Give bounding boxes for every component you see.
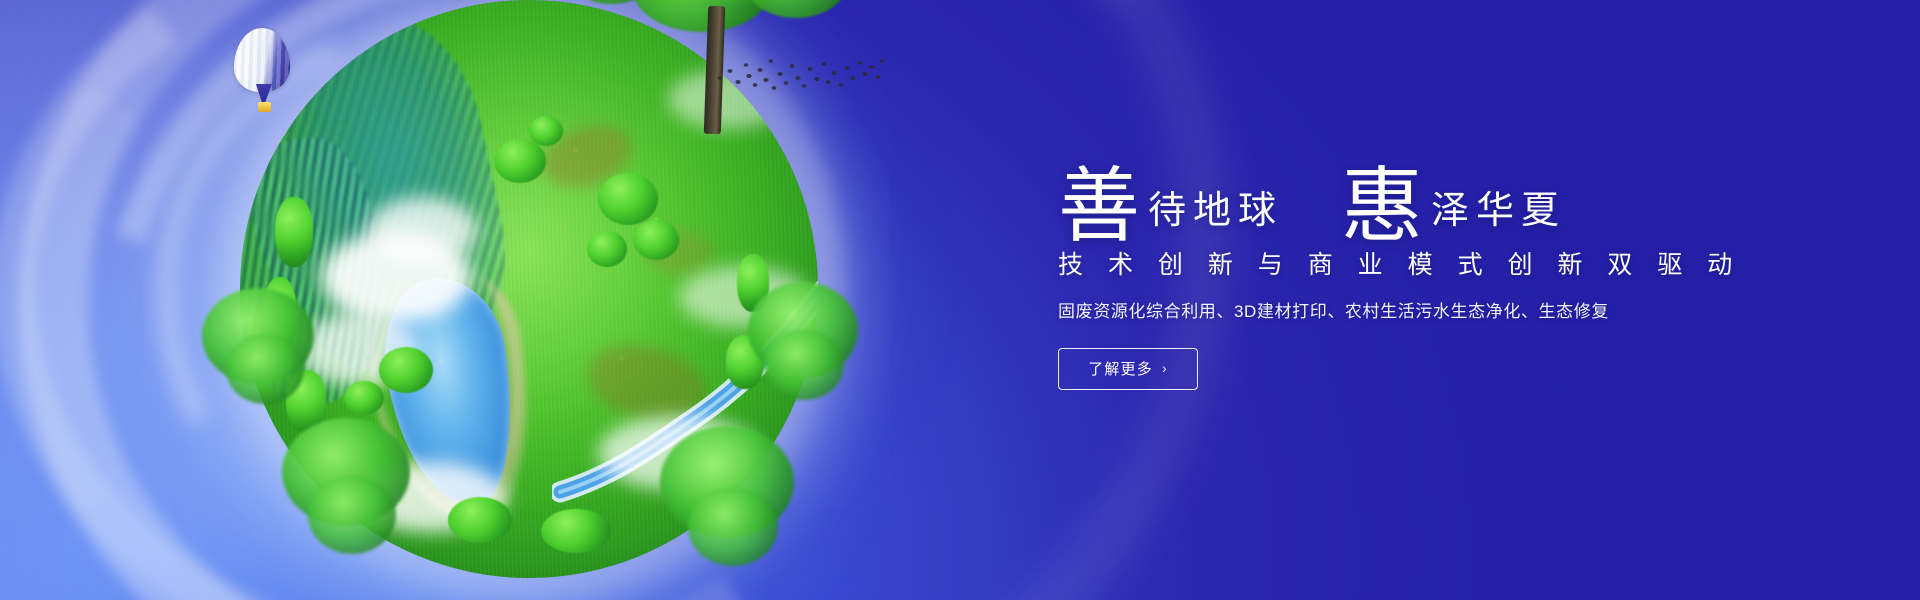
rim-tree	[648, 418, 808, 588]
balloon-basket	[258, 102, 271, 112]
earth-patch	[534, 114, 639, 198]
surface-cloud	[356, 462, 506, 532]
hero-banner: 善 待地球 惠 泽华夏 技 术 创 新 与 商 业 模 式 创 新 双 驱 动 …	[0, 0, 1920, 600]
headline-rest-1: 待地球	[1140, 192, 1283, 236]
river	[552, 254, 818, 555]
headline-lead-char-1: 善	[1058, 173, 1140, 242]
rim-tree	[738, 274, 868, 424]
balloon-seams	[234, 28, 290, 92]
earth-patch	[410, 376, 502, 437]
mountain-ridge-secondary	[240, 132, 392, 412]
learn-more-button[interactable]: 了解更多 ›	[1058, 348, 1198, 390]
rim-tree	[274, 408, 424, 578]
surface-cloud	[598, 416, 758, 490]
hero-copy: 善 待地球 惠 泽华夏 技 术 创 新 与 商 业 模 式 创 新 双 驱 动 …	[1058, 150, 1758, 390]
headline-phrase-2: 惠 泽华夏	[1341, 167, 1566, 236]
left-haze	[0, 0, 430, 600]
headline-phrase-1: 善 待地球	[1058, 167, 1283, 236]
lake-shoreline	[355, 251, 547, 536]
lake	[375, 270, 527, 516]
learn-more-label: 了解更多	[1088, 358, 1153, 379]
hot-air-balloon-icon	[228, 28, 298, 120]
page-title: 善 待地球 惠 泽华夏	[1058, 150, 1758, 236]
headline-rest-2: 泽华夏	[1423, 192, 1566, 236]
chevron-right-icon: ›	[1162, 361, 1168, 375]
surface-cloud	[321, 231, 471, 323]
surface-cloud	[679, 266, 809, 328]
page-description: 固废资源化综合利用、3D建材打印、农村生活污水生态净化、生态修复	[1058, 300, 1758, 324]
earth-patch	[580, 333, 714, 432]
headline-lead-char-2: 惠	[1341, 173, 1423, 242]
surface-cloud	[298, 312, 418, 386]
page-subtitle: 技 术 创 新 与 商 业 模 式 创 新 双 驱 动	[1058, 250, 1758, 280]
bird-flock-icon	[714, 52, 884, 112]
earth-patch	[645, 231, 715, 275]
balloon-tail	[256, 84, 272, 102]
rim-tree	[196, 278, 326, 428]
surface-cloud	[367, 197, 477, 263]
